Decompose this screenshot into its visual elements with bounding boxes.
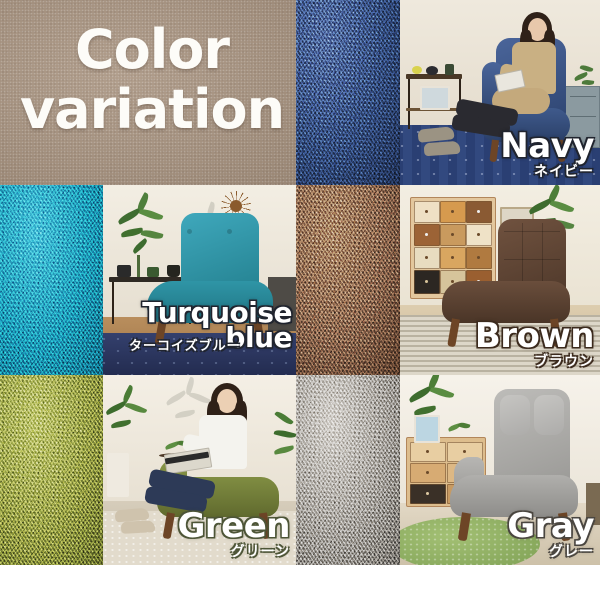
swatch-green (0, 375, 103, 565)
fabric-texture-navy (296, 0, 400, 185)
photo-gray: Gray グレー (400, 375, 600, 565)
photo-turquoise-blue: Turquoise blue ターコイズブルー (103, 185, 296, 375)
swatch-turquoise-blue (0, 185, 103, 375)
page-title-line2: variation (0, 84, 296, 136)
photo-green: Green グリーン (103, 375, 296, 565)
fabric-texture-green (0, 375, 103, 565)
fabric-texture-gray (296, 375, 400, 565)
title-panel: Color variation (0, 0, 296, 185)
page-title: Color variation (0, 24, 296, 136)
swatch-gray (296, 375, 400, 565)
photo-brown: Brown ブラウン (400, 185, 600, 375)
swatch-navy (296, 0, 400, 185)
bottom-white-band (0, 565, 600, 600)
page-title-line1: Color (0, 24, 296, 76)
fabric-texture-brown (296, 185, 400, 375)
photo-navy: Navy ネイビー (400, 0, 600, 185)
color-variation-board: Color variation (0, 0, 600, 600)
swatch-brown (296, 185, 400, 375)
fabric-texture-turquoise-blue (0, 185, 103, 375)
color-label-turquoise-blue-jp: ターコイズブルー (129, 340, 241, 353)
